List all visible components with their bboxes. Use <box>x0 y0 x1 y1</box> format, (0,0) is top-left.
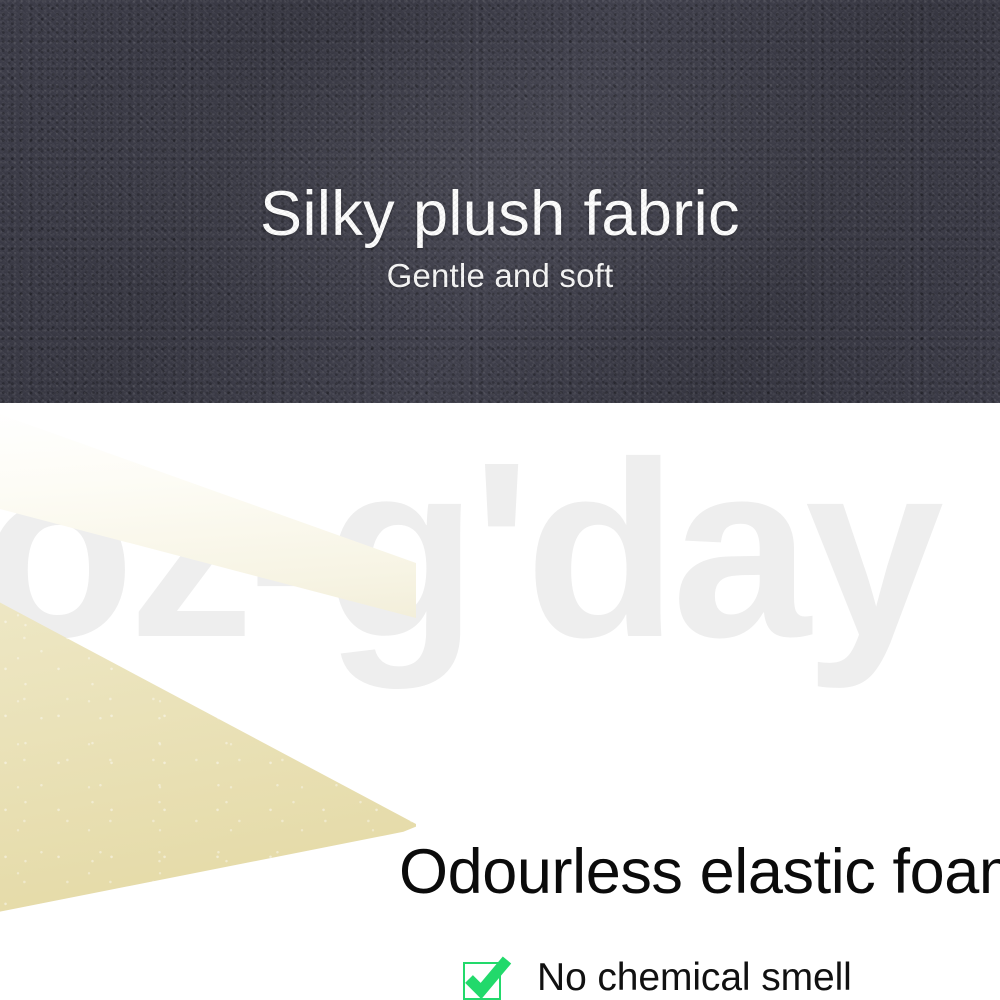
feature-label: No chemical smell <box>537 958 852 998</box>
fabric-texture-panel: Silky plush fabric Gentle and soft <box>0 0 1000 403</box>
list-item: No chemical smell <box>463 958 1000 1000</box>
foam-section-heading: Odourless elastic foam <box>399 841 1000 904</box>
product-infographic: Silky plush fabric Gentle and soft oz-g'… <box>0 0 1000 1000</box>
feature-checklist: No chemical smell High density design <box>463 958 1000 1000</box>
fabric-section-subtitle: Gentle and soft <box>0 259 1000 292</box>
foam-block-image <box>0 408 416 928</box>
checkbox-checked-icon <box>463 962 501 1000</box>
foam-top-face <box>0 408 416 658</box>
fabric-section-title: Silky plush fabric <box>0 183 1000 246</box>
foam-section-panel: oz-g'day Odourless elastic foam No chemi… <box>0 403 1000 1000</box>
